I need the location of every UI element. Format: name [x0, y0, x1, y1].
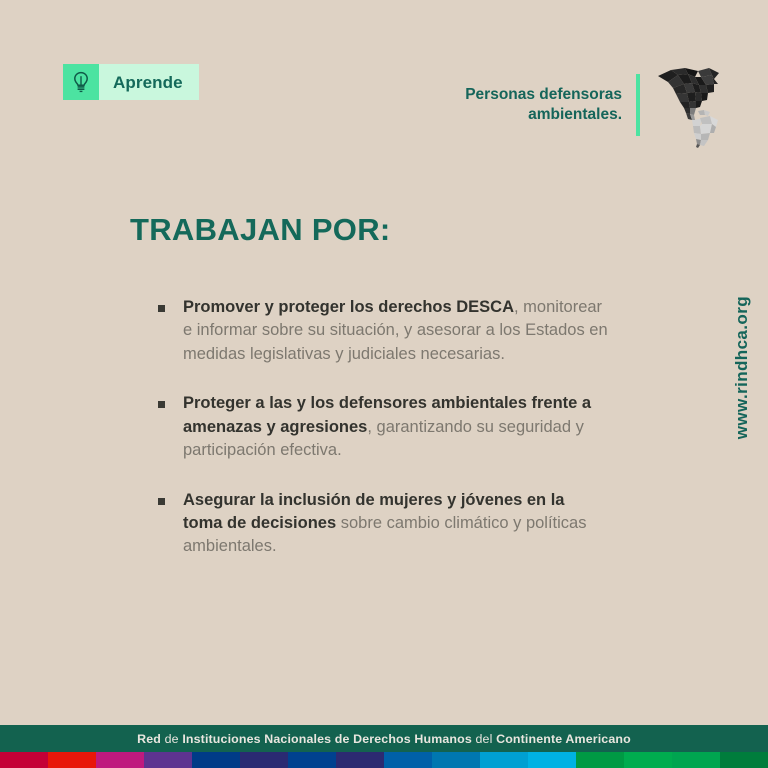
header-title: Personas defensoras ambientales. [465, 85, 636, 125]
footer-segment-4: Continente Americano [496, 732, 631, 746]
footer-segment-3: del [472, 732, 496, 746]
site-url-vertical[interactable]: www.rindhca.org [733, 296, 750, 439]
header-divider [636, 74, 640, 136]
footer-segment-1: de [161, 732, 182, 746]
bullet-text: Proteger a las y los defensores ambienta… [183, 392, 608, 462]
bullet-text: Asegurar la inclusión de mujeres y jóven… [183, 489, 608, 559]
color-strip-band-6 [288, 752, 336, 768]
color-strip-band-14 [672, 752, 720, 768]
color-strip-band-4 [192, 752, 240, 768]
bullet-marker-icon [158, 401, 165, 408]
badge-label-container: Aprende [99, 64, 199, 100]
list-item: Promover y proteger los derechos DESCA, … [158, 296, 608, 366]
color-strip-band-5 [240, 752, 288, 768]
footer-segment-0: Red [137, 732, 161, 746]
lightbulb-icon [63, 64, 99, 100]
color-strip-band-11 [528, 752, 576, 768]
americas-map-icon [654, 62, 728, 148]
bullet-list: Promover y proteger los derechos DESCA, … [158, 296, 608, 585]
bullet-text: Promover y proteger los derechos DESCA, … [183, 296, 608, 366]
color-strip-band-10 [480, 752, 528, 768]
aprende-badge[interactable]: Aprende [63, 64, 199, 100]
color-strip-band-2 [96, 752, 144, 768]
color-strip-band-13 [624, 752, 672, 768]
color-strip-band-12 [576, 752, 624, 768]
color-strip-band-3 [144, 752, 192, 768]
color-strip-band-8 [384, 752, 432, 768]
badge-label: Aprende [113, 74, 183, 91]
page-title: TRABAJAN POR: [130, 214, 391, 245]
footer-bar: Red de Instituciones Nacionales de Derec… [0, 725, 768, 752]
footer-segment-2: Instituciones Nacionales de Derechos Hum… [182, 732, 472, 746]
color-strip-band-7 [336, 752, 384, 768]
bullet-marker-icon [158, 498, 165, 505]
footer-color-strip [0, 752, 768, 768]
color-strip-band-15 [720, 752, 768, 768]
color-strip-band-1 [48, 752, 96, 768]
bullet-lead: Promover y proteger los derechos DESCA [183, 298, 514, 316]
poster-canvas: Aprende Personas defensoras ambientales. [0, 0, 768, 768]
bullet-marker-icon [158, 305, 165, 312]
color-strip-band-0 [0, 752, 48, 768]
list-item: Asegurar la inclusión de mujeres y jóven… [158, 489, 608, 559]
list-item: Proteger a las y los defensores ambienta… [158, 392, 608, 462]
footer-text: Red de Instituciones Nacionales de Derec… [137, 732, 631, 746]
color-strip-band-9 [432, 752, 480, 768]
header-group: Personas defensoras ambientales. [465, 60, 728, 150]
